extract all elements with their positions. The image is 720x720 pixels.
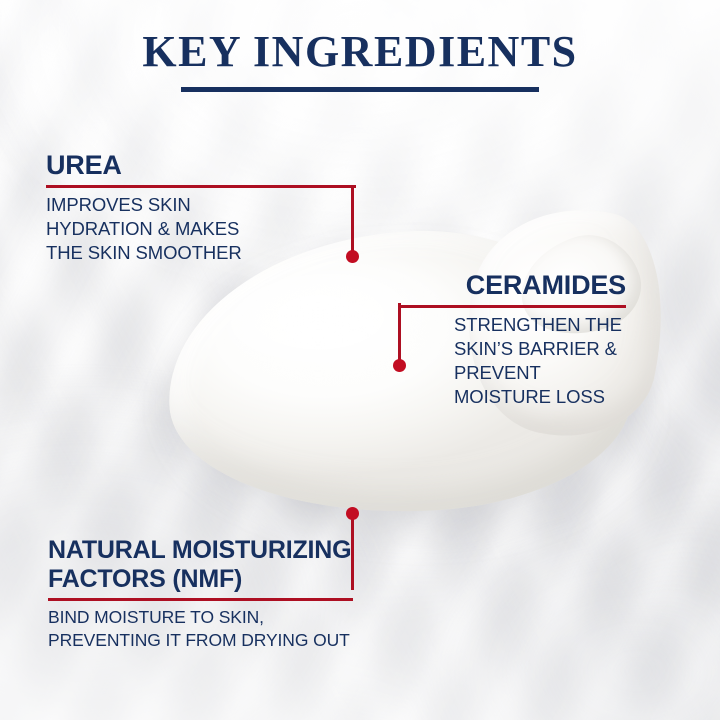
page-title-text: KEY INGREDIENTS [0,30,720,74]
leader-line-urea [351,188,354,258]
callout-urea: UREA IMPROVES SKIN HYDRATION & MAKES THE… [46,152,356,265]
callout-ceramides-body: STRENGTHEN THE SKIN’S BARRIER & PREVENT … [454,313,626,410]
callout-nmf-heading: NATURAL MOISTURIZING FACTORS (NMF) [48,536,353,593]
leader-dot-ceramides [393,359,406,372]
callout-ceramides-heading: CERAMIDES [398,272,626,300]
callout-urea-rule [46,185,356,188]
key-ingredients-infographic: KEY INGREDIENTS UREA IMPROVES SKIN HYDRA… [0,0,720,720]
callout-nmf: NATURAL MOISTURIZING FACTORS (NMF) BIND … [48,536,353,652]
callout-urea-heading: UREA [46,152,356,180]
leader-dot-nmf [346,507,359,520]
callout-urea-body: IMPROVES SKIN HYDRATION & MAKES THE SKIN… [46,193,356,266]
page-title: KEY INGREDIENTS [0,30,720,92]
callout-ceramides-rule [398,305,626,308]
callout-ceramides: CERAMIDES STRENGTHEN THE SKIN’S BARRIER … [398,272,626,409]
callout-nmf-rule [48,598,353,601]
page-title-underline [181,87,539,92]
leader-line-nmf [351,518,354,590]
leader-dot-urea [346,250,359,263]
callout-nmf-body: BIND MOISTURE TO SKIN, PREVENTING IT FRO… [48,606,353,652]
